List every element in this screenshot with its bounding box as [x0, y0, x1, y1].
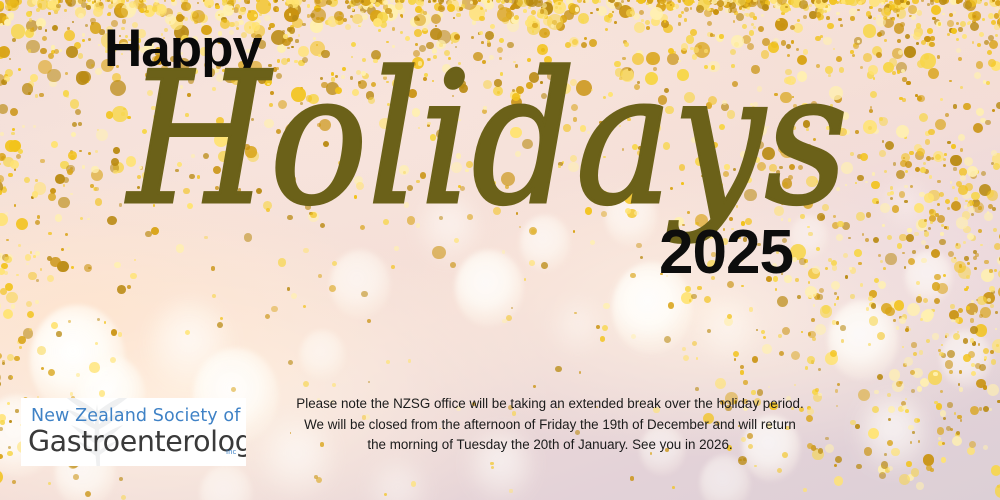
- headline-year: 2025: [659, 222, 793, 284]
- notice-line-3: the morning of Tuesday the 20th of Janua…: [250, 435, 850, 456]
- holiday-notice: Please note the NZSG office will be taki…: [250, 394, 850, 456]
- logo-line-2: Gastroenterology: [28, 425, 246, 458]
- holiday-banner: Happy Holidays 2025 New Zealand Society …: [0, 0, 1000, 500]
- nzsg-logo: New Zealand Society of Gastroenterology …: [21, 398, 246, 466]
- notice-line-1: Please note the NZSG office will be taki…: [250, 394, 850, 415]
- logo-line-1: New Zealand Society of: [31, 406, 240, 426]
- logo-inc-suffix: Inc: [226, 448, 236, 456]
- svg-text:Holidays: Holidays: [125, 33, 848, 245]
- notice-line-2: We will be closed from the afternoon of …: [250, 415, 850, 436]
- headline-holidays-script: Holidays: [128, 52, 858, 242]
